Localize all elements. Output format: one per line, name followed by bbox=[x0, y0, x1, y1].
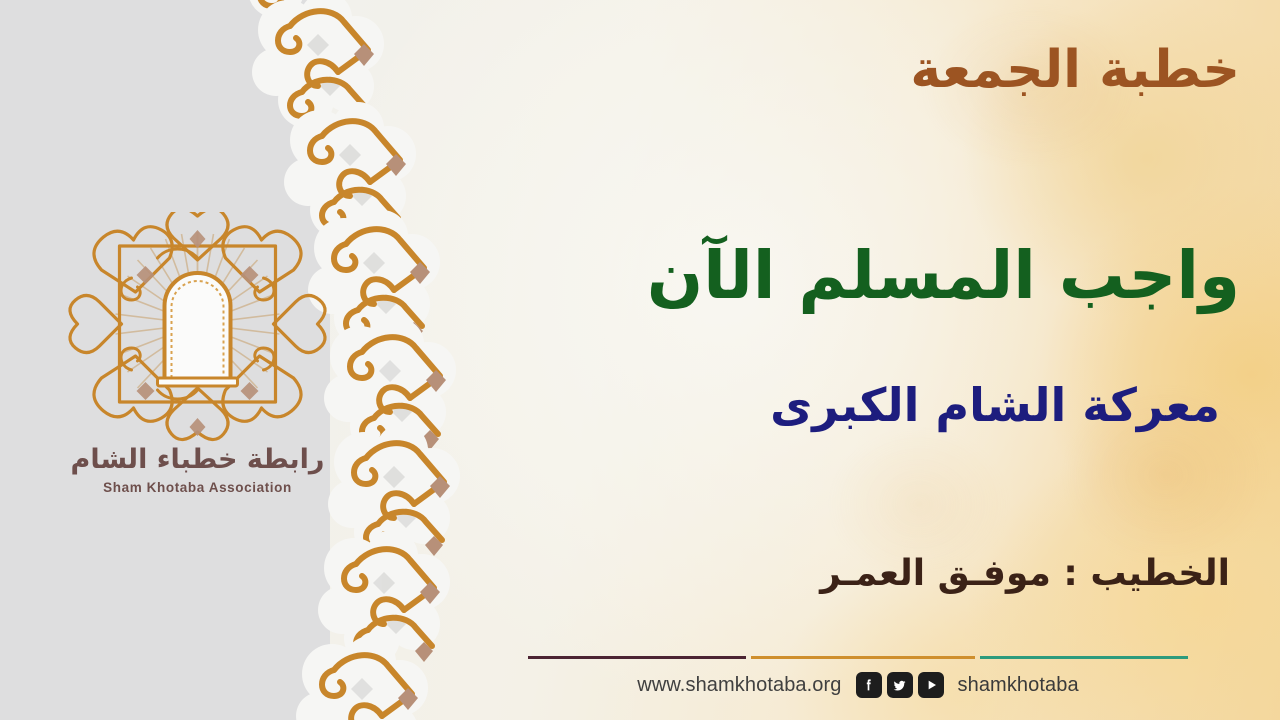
twitter-icon[interactable] bbox=[887, 672, 913, 698]
logo: رابطة خطباء الشام Sham Khotaba Associati… bbox=[60, 212, 335, 512]
footer-divider-rule bbox=[528, 656, 1188, 659]
footer-row: www.shamkhotaba.org bbox=[528, 672, 1188, 698]
facebook-icon[interactable] bbox=[856, 672, 882, 698]
youtube-icon[interactable] bbox=[918, 672, 944, 698]
footer: www.shamkhotaba.org bbox=[528, 656, 1188, 698]
rule-segment-gold bbox=[751, 656, 975, 659]
website-url[interactable]: www.shamkhotaba.org bbox=[637, 674, 841, 697]
logo-english-name: Sham Khotaba Association bbox=[60, 480, 335, 495]
speaker-name: الخطيب : موفـق العمـر bbox=[520, 552, 1230, 595]
khutbah-poster: رابطة خطباء الشام Sham Khotaba Associati… bbox=[0, 0, 1280, 720]
social-handle[interactable]: shamkhotaba bbox=[958, 674, 1079, 697]
social-links bbox=[856, 672, 944, 698]
logo-arabic-name: رابطة خطباء الشام bbox=[60, 444, 335, 475]
rule-segment-maroon bbox=[528, 656, 746, 659]
page-title: واجب المسلم الآن bbox=[520, 238, 1240, 314]
kicker-khutbat-aljumua: خطبة الجمعة bbox=[520, 42, 1240, 99]
rule-segment-teal bbox=[980, 656, 1188, 659]
page-subtitle: معركة الشام الكبرى bbox=[520, 378, 1220, 433]
logo-mark-mihrab-star bbox=[60, 212, 335, 442]
poster-text-content: خطبة الجمعة واجب المسلم الآن معركة الشام… bbox=[520, 0, 1240, 720]
